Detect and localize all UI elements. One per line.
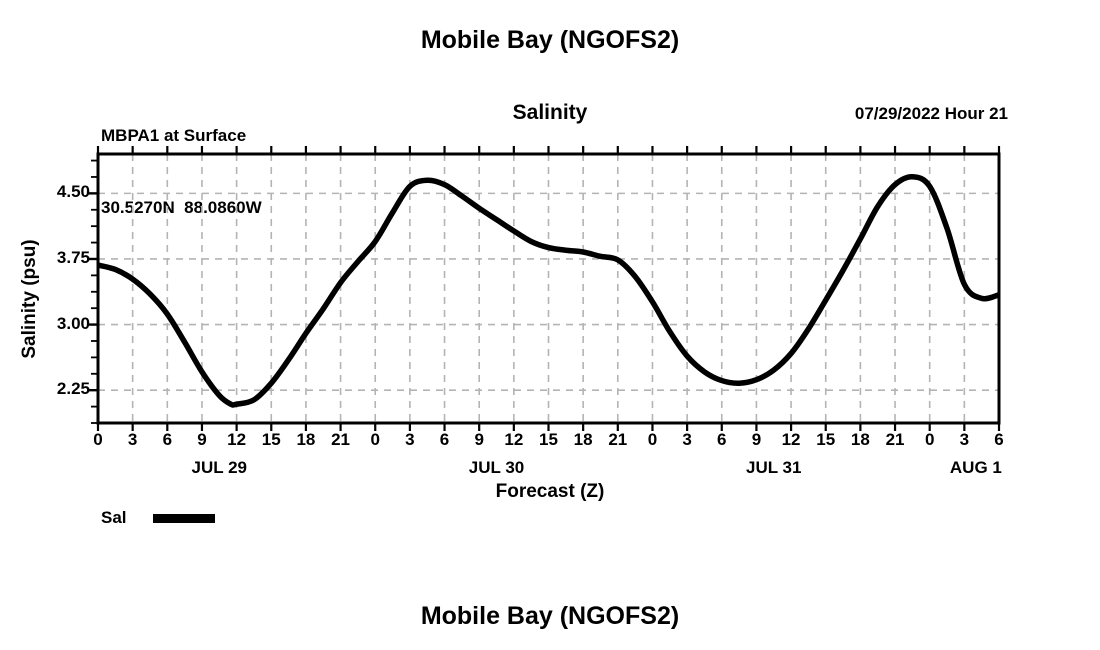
x-axis-title: Forecast (Z) <box>0 481 1100 503</box>
x-day-label: AUG 1 <box>896 458 1056 478</box>
y-tick-label: 3.00 <box>30 314 90 334</box>
legend-swatch-sal <box>153 514 215 523</box>
x-day-label: JUL 31 <box>694 458 854 478</box>
y-tick-label: 4.50 <box>30 182 90 202</box>
legend: Sal <box>101 508 215 528</box>
model-run-time: 07/29/2022 Hour 21 <box>855 104 1008 124</box>
x-day-label: JUL 30 <box>417 458 577 478</box>
footer-title: Mobile Bay (NGOFS2) <box>0 602 1100 631</box>
page-title: Mobile Bay (NGOFS2) <box>0 26 1100 55</box>
chart-page: Mobile Bay (NGOFS2) MBPA1 at Surface 30.… <box>0 0 1100 650</box>
y-axis-tick-labels: 2.253.003.754.50 <box>28 0 90 650</box>
y-tick-label: 2.25 <box>30 379 90 399</box>
station-coordinates: 30.5270N 88.0860W <box>101 196 262 220</box>
y-tick-label: 3.75 <box>30 248 90 268</box>
station-name-depth: MBPA1 at Surface <box>101 124 262 148</box>
x-tick-label: 6 <box>979 430 1019 450</box>
x-day-label: JUL 29 <box>139 458 299 478</box>
legend-label-sal: Sal <box>101 508 127 528</box>
